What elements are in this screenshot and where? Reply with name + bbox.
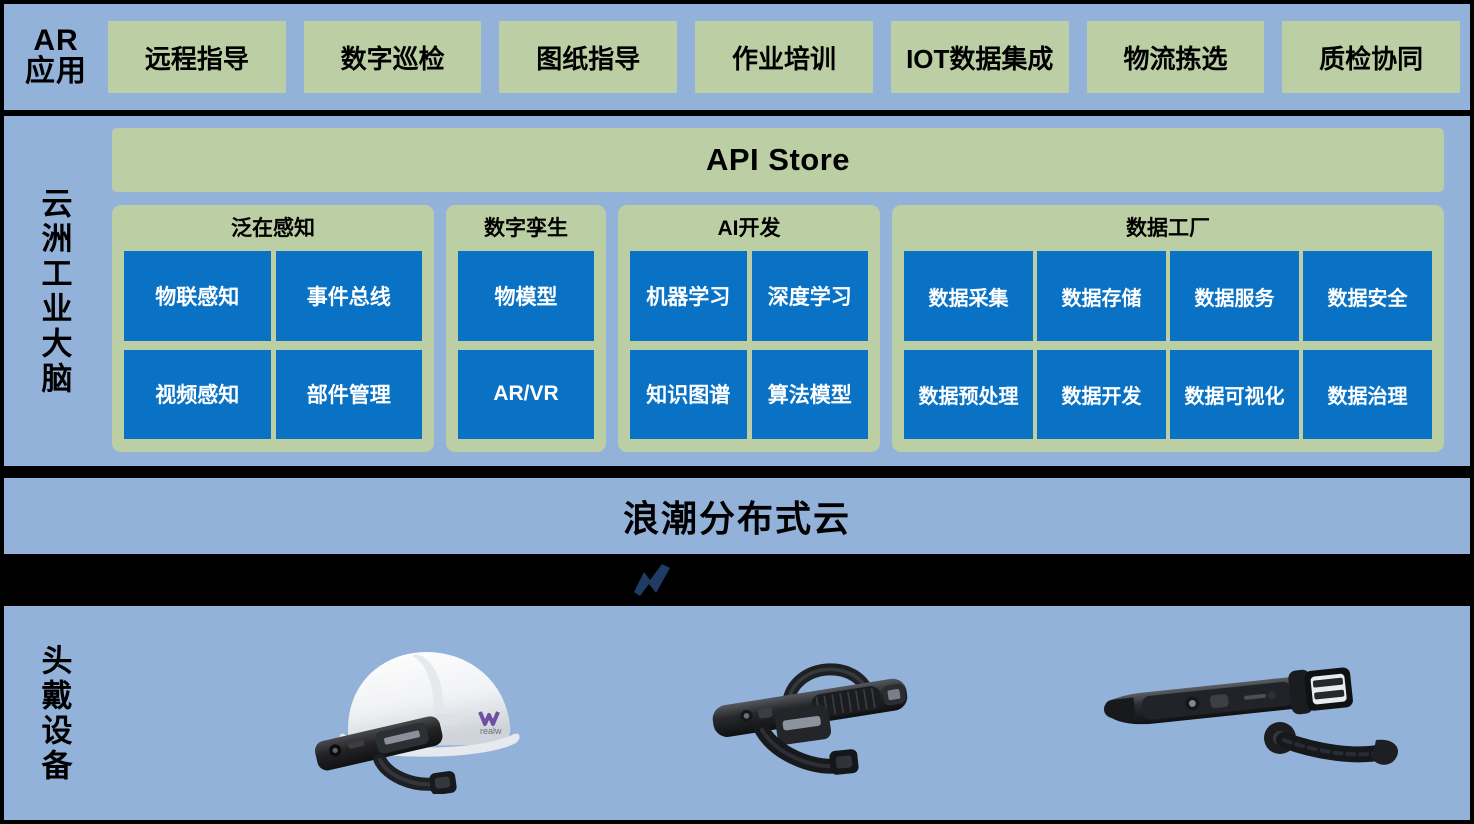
capability-group-ubiquitous-sensing: 泛在感知 物联感知 事件总线 视频感知 部件管理 [112,205,434,452]
tile-row: 物联感知 事件总线 [124,251,422,340]
group-tiles: 物联感知 事件总线 视频感知 部件管理 [124,251,422,439]
capability-tile[interactable]: 算法模型 [752,350,869,439]
tile-row: 知识图谱 算法模型 [630,350,868,439]
tile-row: AR/VR [458,350,594,439]
distributed-cloud-layer: 浪潮分布式云 [4,478,1470,554]
device-layer-label: 头戴设备 [4,606,104,820]
device-showcase: realw [104,606,1470,820]
ar-app-item[interactable]: 远程指导 [108,21,286,93]
ar-app-item[interactable]: IOT数据集成 [891,21,1069,93]
ar-application-list: 远程指导 数字巡检 图纸指导 作业培训 IOT数据集成 物流拣选 质检协同 [108,21,1470,93]
ar-layer-label: AR 应用 [4,26,108,88]
brain-layer-label: 云洲工业大脑 [4,116,104,466]
capability-tile[interactable]: 视频感知 [124,350,271,439]
ar-headband-device-icon [684,646,934,786]
capability-groups: 泛在感知 物联感知 事件总线 视频感知 部件管理 数字孪生 [112,205,1444,452]
architecture-diagram: AR 应用 远程指导 数字巡检 图纸指导 作业培训 IOT数据集成 物流拣选 质… [0,0,1474,824]
api-store-bar[interactable]: API Store [112,128,1444,192]
brain-layer-content: API Store 泛在感知 物联感知 事件总线 视频感知 部件管理 [104,116,1470,466]
capability-tile[interactable]: 物联感知 [124,251,271,340]
ar-safety-helmet-icon: realw [284,634,534,794]
group-tiles: 物模型 AR/VR [458,251,594,439]
tile-row: 物模型 [458,251,594,340]
ar-app-item[interactable]: 图纸指导 [499,21,677,93]
industrial-brain-layer: 云洲工业大脑 API Store 泛在感知 物联感知 事件总线 视频感知 部件管… [4,116,1470,466]
head-mounted-device-layer: 头戴设备 [4,606,1470,820]
capability-tile[interactable]: 部件管理 [276,350,423,439]
capability-tile[interactable]: 事件总线 [276,251,423,340]
group-title: 泛在感知 [124,212,422,251]
tile-row: 机器学习 深度学习 [630,251,868,340]
ar-layer-label-line2: 应用 [4,57,108,88]
capability-tile[interactable]: 机器学习 [630,251,747,340]
group-title: 数字孪生 [458,212,594,251]
capability-tile[interactable]: 数据预处理 [904,350,1033,439]
capability-group-ai-development: AI开发 机器学习 深度学习 知识图谱 算法模型 [618,205,880,452]
group-title: AI开发 [630,212,868,251]
ar-monocular-device-icon [1094,642,1404,782]
capability-tile[interactable]: 知识图谱 [630,350,747,439]
tile-row: 视频感知 部件管理 [124,350,422,439]
capability-tile[interactable]: 数据可视化 [1170,350,1299,439]
ar-app-item[interactable]: 作业培训 [695,21,873,93]
capability-tile[interactable]: 数据治理 [1303,350,1432,439]
capability-tile[interactable]: 数据采集 [904,251,1033,340]
capability-tile[interactable]: 数据开发 [1037,350,1166,439]
group-tiles: 机器学习 深度学习 知识图谱 算法模型 [630,251,868,439]
ar-app-item[interactable]: 质检协同 [1282,21,1460,93]
capability-group-digital-twin: 数字孪生 物模型 AR/VR [446,205,606,452]
tile-row: 数据预处理 数据开发 数据可视化 数据治理 [904,350,1432,439]
svg-text:realw: realw [480,726,502,736]
capability-group-data-factory: 数据工厂 数据采集 数据存储 数据服务 数据安全 数据预处理 数据开发 数据可视… [892,205,1444,452]
capability-tile[interactable]: AR/VR [458,350,594,439]
ar-layer-label-line1: AR [4,26,108,57]
lightning-bolt-icon [624,560,680,598]
ar-app-item[interactable]: 物流拣选 [1087,21,1265,93]
cloud-layer-title: 浪潮分布式云 [623,490,851,542]
capability-tile[interactable]: 数据安全 [1303,251,1432,340]
group-tiles: 数据采集 数据存储 数据服务 数据安全 数据预处理 数据开发 数据可视化 数据治… [904,251,1432,439]
capability-tile[interactable]: 深度学习 [752,251,869,340]
capability-tile[interactable]: 物模型 [458,251,594,340]
group-title: 数据工厂 [904,212,1432,251]
capability-tile[interactable]: 数据存储 [1037,251,1166,340]
capability-tile[interactable]: 数据服务 [1170,251,1299,340]
tile-row: 数据采集 数据存储 数据服务 数据安全 [904,251,1432,340]
ar-application-layer: AR 应用 远程指导 数字巡检 图纸指导 作业培训 IOT数据集成 物流拣选 质… [4,4,1470,110]
ar-app-item[interactable]: 数字巡检 [304,21,482,93]
